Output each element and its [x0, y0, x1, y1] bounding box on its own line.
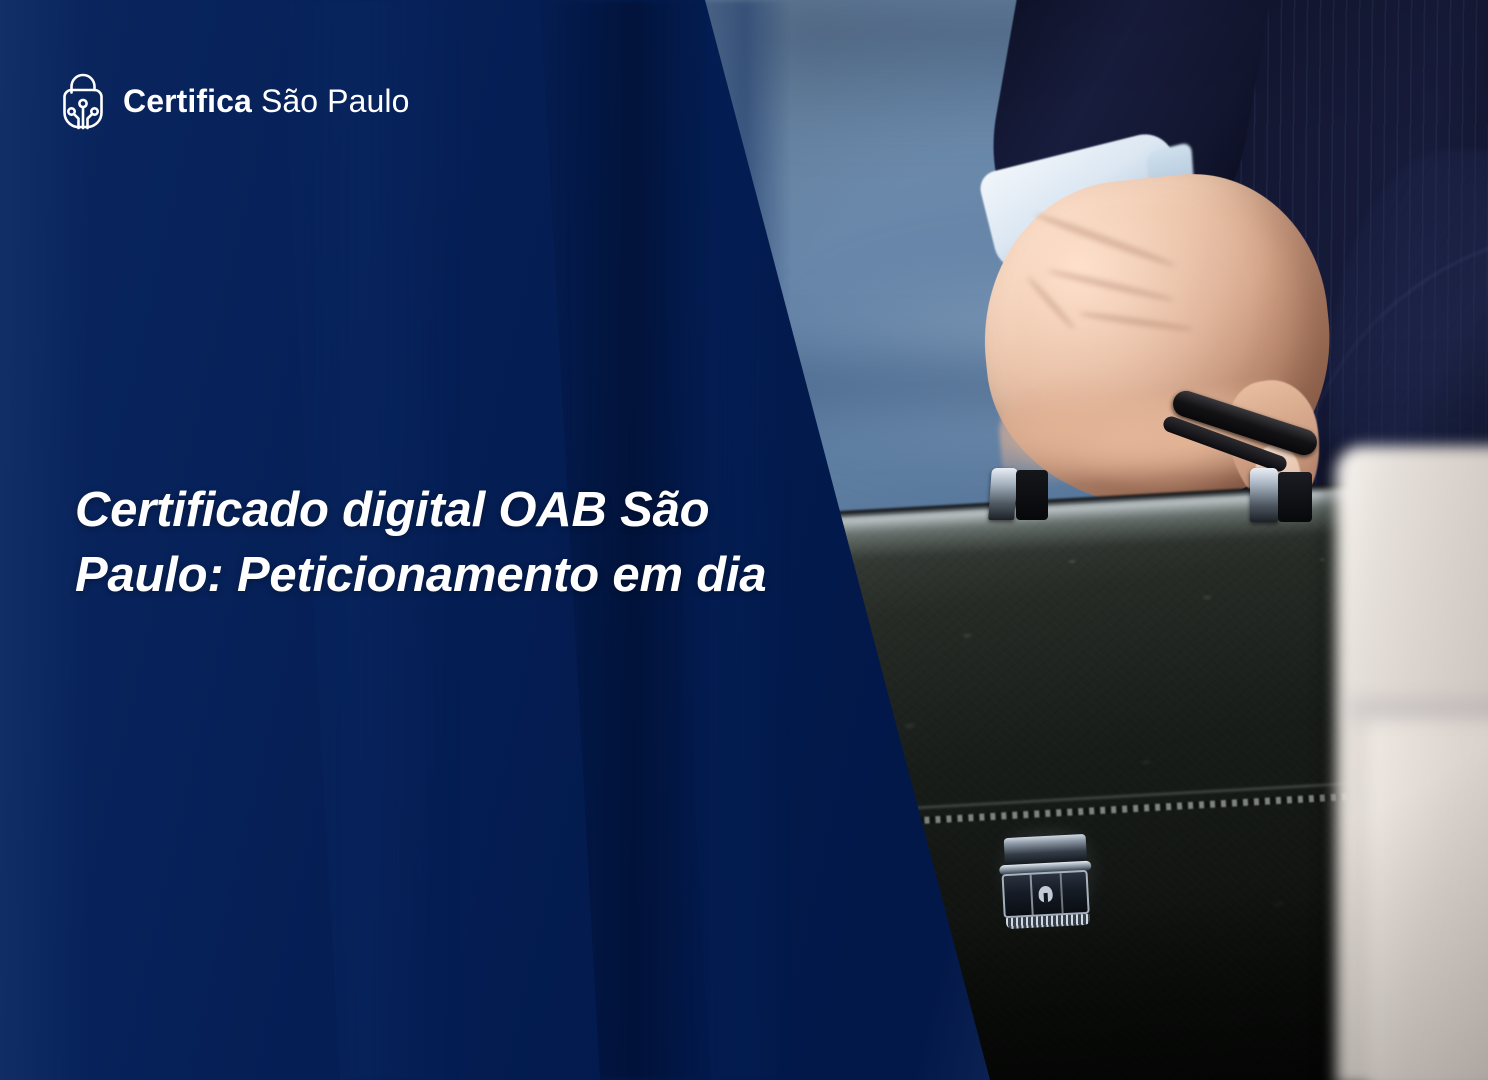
briefcase-clasp [996, 834, 1097, 931]
headline-line-1: Certificado digital OAB São [75, 483, 709, 537]
brand-name-spacer [252, 83, 261, 119]
clasp-keyhole-icon [1038, 886, 1053, 903]
brand-logo-text: Certifica São Paulo [123, 85, 410, 117]
briefcase-handle-mount-right-inner [1278, 472, 1312, 522]
briefcase-handle-mount-right [1250, 468, 1278, 522]
padlock-circuit-icon [58, 70, 110, 132]
brand-logo[interactable]: Certifica São Paulo [58, 70, 410, 132]
briefcase-handle-mount-left [988, 468, 1018, 520]
brand-name-bold: Certifica [123, 83, 252, 119]
briefcase-handle-mount-left-inner [1016, 470, 1048, 520]
beige-foreground-band [1348, 700, 1488, 728]
page-title: Certificado digital OAB São Paulo: Petic… [75, 478, 835, 607]
brand-name-regular: São Paulo [261, 83, 410, 119]
hero-banner: Certifica São Paulo Certificado digital … [0, 0, 1488, 1080]
beige-foreground-shaft [1368, 718, 1488, 1080]
headline-line-2: Paulo: Peticionamento em dia [75, 548, 766, 602]
